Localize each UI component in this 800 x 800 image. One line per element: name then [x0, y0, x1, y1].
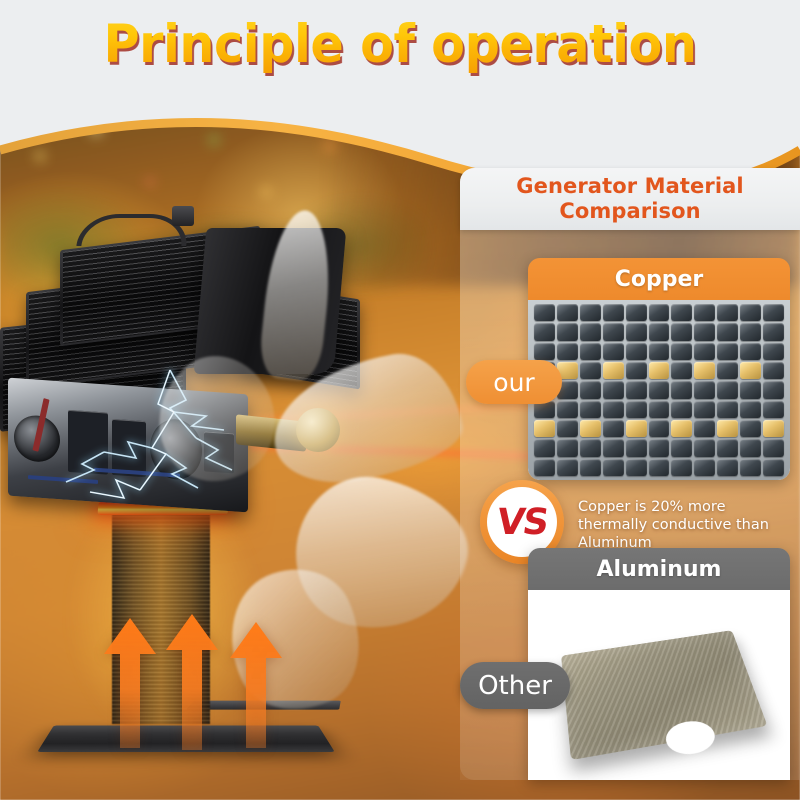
- heat-arrow: [104, 618, 156, 748]
- comparison-note: Copper is 20% more thermally conductive …: [578, 498, 796, 552]
- panel-heading-line1: Generator Material: [516, 174, 743, 198]
- comparison-panel-header: Generator Material Comparison: [460, 168, 800, 230]
- copper-card-image: [528, 300, 790, 480]
- vs-badge-inner: VS: [487, 487, 557, 557]
- infographic-stage: Principle of operation: [0, 0, 800, 800]
- fan-blade: [257, 207, 336, 383]
- aluminum-plate: [561, 630, 767, 760]
- heat-rising-arrows: [100, 610, 320, 750]
- page-title: Principle of operation: [28, 14, 772, 76]
- copper-card: Copper: [528, 258, 790, 480]
- aluminum-card: Aluminum: [528, 548, 790, 780]
- aluminum-card-label: Aluminum: [528, 548, 790, 590]
- copper-card-label: Copper: [528, 258, 790, 300]
- our-badge: our: [466, 360, 562, 404]
- stove-fan-illustration: [0, 150, 470, 800]
- other-badge: Other: [460, 662, 570, 709]
- vs-badge-label: VS: [494, 502, 550, 543]
- thermoelectric-module-grid: [528, 300, 790, 480]
- panel-heading-line2: Comparison: [559, 199, 700, 223]
- heat-arrow: [166, 614, 218, 750]
- heat-arrow: [230, 622, 282, 748]
